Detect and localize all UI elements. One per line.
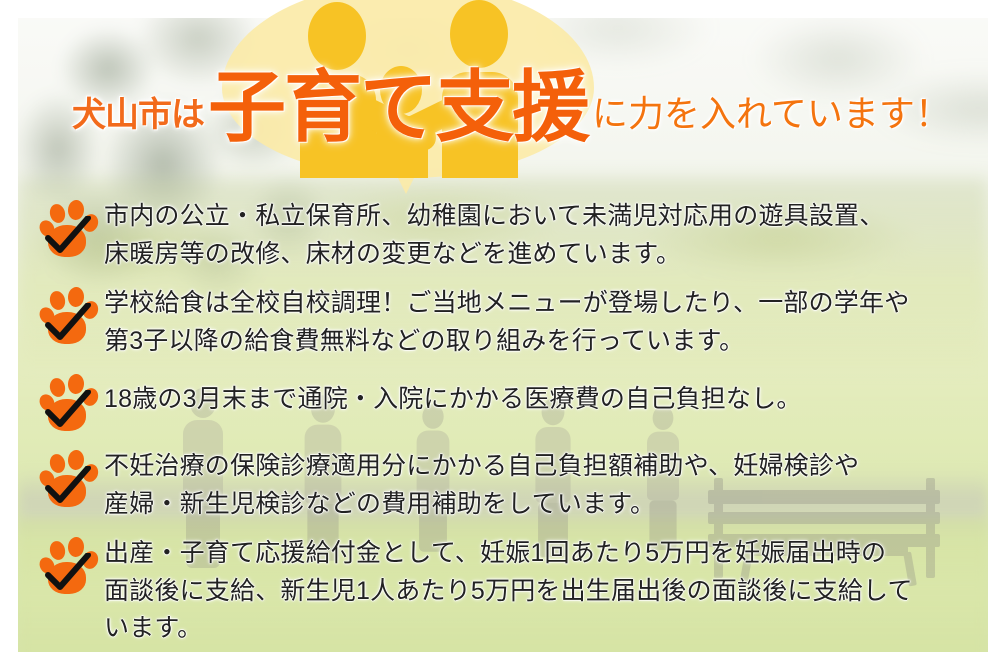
paw-check-icon <box>38 287 100 349</box>
list-item-text: 不妊治療の保険診療適用分にかかる自己負担額補助や、妊婦検診や 産婦・新生児検診な… <box>104 448 978 523</box>
list-item-text: 出産・子育て応援給付金として、妊娠1回あたり5万円を妊娠届出時の 面談後に支給、… <box>104 535 978 648</box>
check-mark-icon <box>45 390 91 430</box>
poster: 犬山市は 子育て支援 に力を入れています！ 市内の公立・私立保育所、幼稚園におい… <box>0 0 1000 666</box>
paw-check-icon <box>38 537 100 599</box>
list-item: 出産・子育て応援給付金として、妊娠1回あたり5万円を妊娠届出時の 面談後に支給、… <box>38 535 978 648</box>
list-item-line: 産婦・新生児検診などの費用補助をしています。 <box>104 486 978 524</box>
list-item-line: います。 <box>104 610 978 648</box>
list-item: 学校給食は全校自校調理！ご当地メニューが登場したり、一部の学年や 第3子以降の給… <box>38 285 978 360</box>
list-item-line: 床暖房等の改修、床材の変更などを進めています。 <box>104 236 978 274</box>
list-item-text: 市内の公立・私立保育所、幼稚園において未満児対応用の遊具設置、 床暖房等の改修、… <box>104 198 978 273</box>
headline-prefix: 犬山市は <box>72 87 204 136</box>
list-item-line: 18歳の3月末まで通院・入院にかかる医療費の自己負担なし。 <box>104 381 978 419</box>
list-item-line: 不妊治療の保険診療適用分にかかる自己負担額補助や、妊婦検診や <box>104 448 978 486</box>
list-item-line: 出産・子育て応援給付金として、妊娠1回あたり5万円を妊娠届出時の <box>104 535 978 573</box>
headline-suffix: に力を入れています！ <box>592 85 951 137</box>
list-item: 不妊治療の保険診療適用分にかかる自己負担額補助や、妊婦検診や 産婦・新生児検診な… <box>38 448 978 523</box>
paw-check-icon <box>38 450 100 512</box>
paw-check-icon <box>38 200 100 262</box>
check-mark-icon <box>45 303 91 343</box>
list-item-line: 市内の公立・私立保育所、幼稚園において未満児対応用の遊具設置、 <box>104 198 978 236</box>
check-mark-icon <box>45 216 91 256</box>
list-item-line: 第3子以降の給食費無料などの取り組みを行っています。 <box>104 323 978 361</box>
list-item-text: 18歳の3月末まで通院・入院にかかる医療費の自己負担なし。 <box>104 372 978 419</box>
headline-emphasis: 子育て支援 <box>208 68 588 146</box>
list-item: 市内の公立・私立保育所、幼稚園において未満児対応用の遊具設置、 床暖房等の改修、… <box>38 198 978 273</box>
list-item: 18歳の3月末まで通院・入院にかかる医療費の自己負担なし。 <box>38 372 978 436</box>
list-item-text: 学校給食は全校自校調理！ご当地メニューが登場したり、一部の学年や 第3子以降の給… <box>104 285 978 360</box>
paw-check-icon <box>38 374 100 436</box>
headline: 犬山市は 子育て支援 に力を入れています！ <box>0 72 1000 150</box>
list-item-line: 学校給食は全校自校調理！ご当地メニューが登場したり、一部の学年や <box>104 285 978 323</box>
check-mark-icon <box>45 553 91 593</box>
check-mark-icon <box>45 466 91 506</box>
list-item-line: 面談後に支給、新生児1人あたり5万円を出生届出後の面談後に支給して <box>104 573 978 611</box>
benefits-list: 市内の公立・私立保育所、幼稚園において未満児対応用の遊具設置、 床暖房等の改修、… <box>38 198 978 660</box>
